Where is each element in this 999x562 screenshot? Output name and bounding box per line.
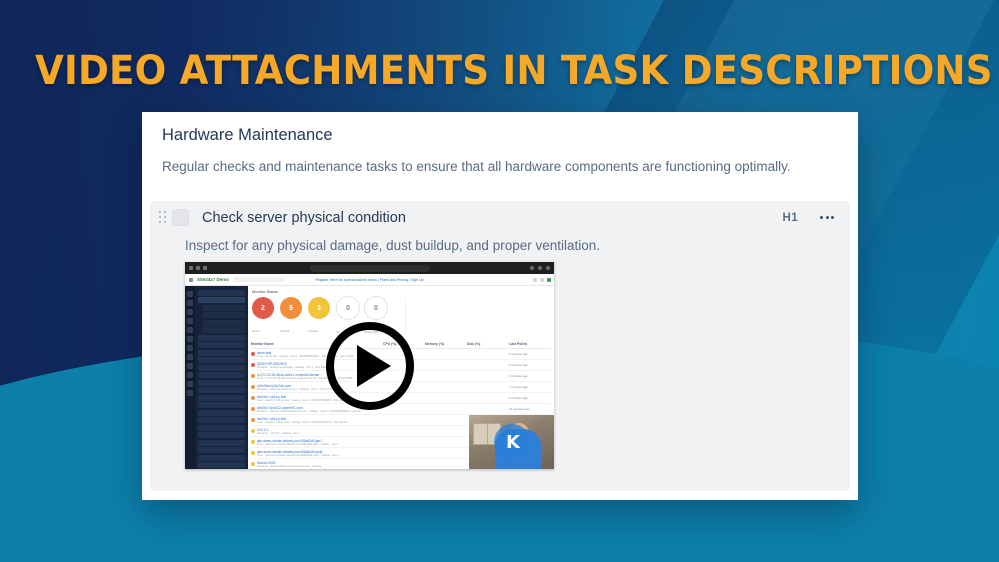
col-last-polled: Last Polled (509, 342, 551, 346)
profile-icon (538, 266, 542, 270)
page-title: VIDEO ATTACHMENTS IN TASK DESCRIPTIONS (35, 48, 964, 94)
status-circle-down: 2 Down (252, 297, 276, 337)
app-menu-icon[interactable] (189, 278, 193, 282)
task-checkbox[interactable] (172, 209, 189, 226)
address-bar[interactable] (310, 265, 430, 272)
sidebar-item-scheduled-automation (198, 455, 245, 461)
network-icon (187, 363, 193, 369)
dashboard-title: Monitor Status (252, 289, 278, 294)
sidebar-item-mysql (198, 380, 245, 386)
sidebar-item-kubernetes (198, 342, 245, 348)
sidebar-item-agentless (198, 432, 245, 438)
sidebar-item-nutanix (198, 425, 245, 431)
aiops-icon (187, 345, 193, 351)
sidebar-toggle-icon (189, 266, 193, 270)
task-row[interactable]: Check server physical condition H1 (150, 201, 850, 234)
sidebar-item-docker (198, 350, 245, 356)
browser-nav-icons[interactable] (189, 266, 207, 270)
summary-panel (405, 300, 551, 334)
col-disk: Disk (%) (467, 342, 509, 346)
card-description: Regular checks and maintenance tasks to … (162, 156, 798, 177)
drag-dots-icon[interactable] (156, 211, 170, 225)
dashboard-header: Monitor Status (248, 286, 554, 295)
app-header-actions[interactable] (533, 278, 551, 282)
sidebar-item-help (198, 290, 245, 296)
sidebar-item-heartbeat (198, 440, 245, 446)
back-icon (196, 266, 200, 270)
app-header: Site24x7 Demo Register Here for a person… (185, 274, 554, 286)
sidebar-item-hyperv (198, 402, 245, 408)
sidebar-item-sql (198, 372, 245, 378)
sidebar-item-it-automation (198, 335, 245, 341)
sidebar-item-windows-update (198, 417, 245, 423)
plugins-icon (187, 336, 193, 342)
cloud-icon (187, 354, 193, 360)
logs-icon (187, 372, 193, 378)
heading-level-badge[interactable]: H1 (782, 212, 798, 224)
sidebar-item-plugin-integrations (198, 462, 245, 468)
col-memory: Memory (%) (425, 342, 467, 346)
card-title: Hardware Maintenance (162, 126, 838, 146)
sidebar-item-server-tools (203, 312, 245, 318)
sidebar-item-cron (198, 447, 245, 453)
task-title: Check server physical condition (202, 210, 406, 226)
apm-icon (187, 309, 193, 315)
slide-canvas: VIDEO ATTACHMENTS IN TASK DESCRIPTIONS H… (0, 0, 999, 562)
reports-icon (187, 390, 193, 396)
avatar (547, 278, 551, 282)
status-icon (187, 327, 193, 333)
sidebar-item-iis (198, 365, 245, 371)
card-header: Hardware Maintenance Regular checks and … (142, 112, 858, 177)
mobile-icon (187, 381, 193, 387)
home-icon (187, 291, 193, 297)
side-navigation[interactable] (195, 286, 248, 469)
play-button-icon[interactable] (326, 322, 414, 410)
browser-chrome-bar (185, 262, 554, 274)
table-row[interactable]: site24x7-ws2012-partner01.comWindows · s… (251, 404, 551, 415)
sidebar-item-health-dashboard (203, 320, 245, 326)
sidebar-item-inventory-dashboard (203, 327, 245, 333)
app-promo-banner: Register Here for a personalized demo | … (315, 278, 423, 282)
task-card: Hardware Maintenance Regular checks and … (142, 112, 858, 500)
edit-icon (533, 278, 537, 282)
app-search-input[interactable] (233, 277, 285, 282)
video-attachment[interactable]: Site24x7 Demo Register Here for a person… (185, 262, 554, 469)
status-circle-critical: 5 Critical (280, 297, 304, 337)
task-row-actions: H1 (782, 212, 836, 224)
task-description: Inspect for any physical damage, dust bu… (150, 234, 850, 262)
ellipsis-icon[interactable] (818, 212, 836, 223)
sidebar-item-server-monitor (198, 297, 245, 303)
webcam-overlay: K (469, 415, 554, 469)
app-logo: Site24x7 Demo (197, 277, 229, 282)
sidebar-item-failover-cluster (198, 410, 245, 416)
link-icon (540, 278, 544, 282)
forward-icon (203, 266, 207, 270)
brand-watermark-icon: K (494, 424, 530, 460)
extensions-icon (530, 266, 534, 270)
browser-action-icons[interactable] (530, 266, 550, 270)
sidebar-item-exchange (198, 357, 245, 363)
sidebar-item-servers (203, 305, 245, 311)
sidebar-item-active-directory (198, 395, 245, 401)
rum-icon (187, 318, 193, 324)
alerts-icon (187, 300, 193, 306)
icon-rail[interactable] (185, 286, 195, 469)
status-circle-trouble: 3 Trouble (308, 297, 332, 337)
sidebar-item-backup (198, 387, 245, 393)
menu-icon (546, 266, 550, 270)
task-panel: Check server physical condition H1 Inspe… (150, 201, 850, 491)
